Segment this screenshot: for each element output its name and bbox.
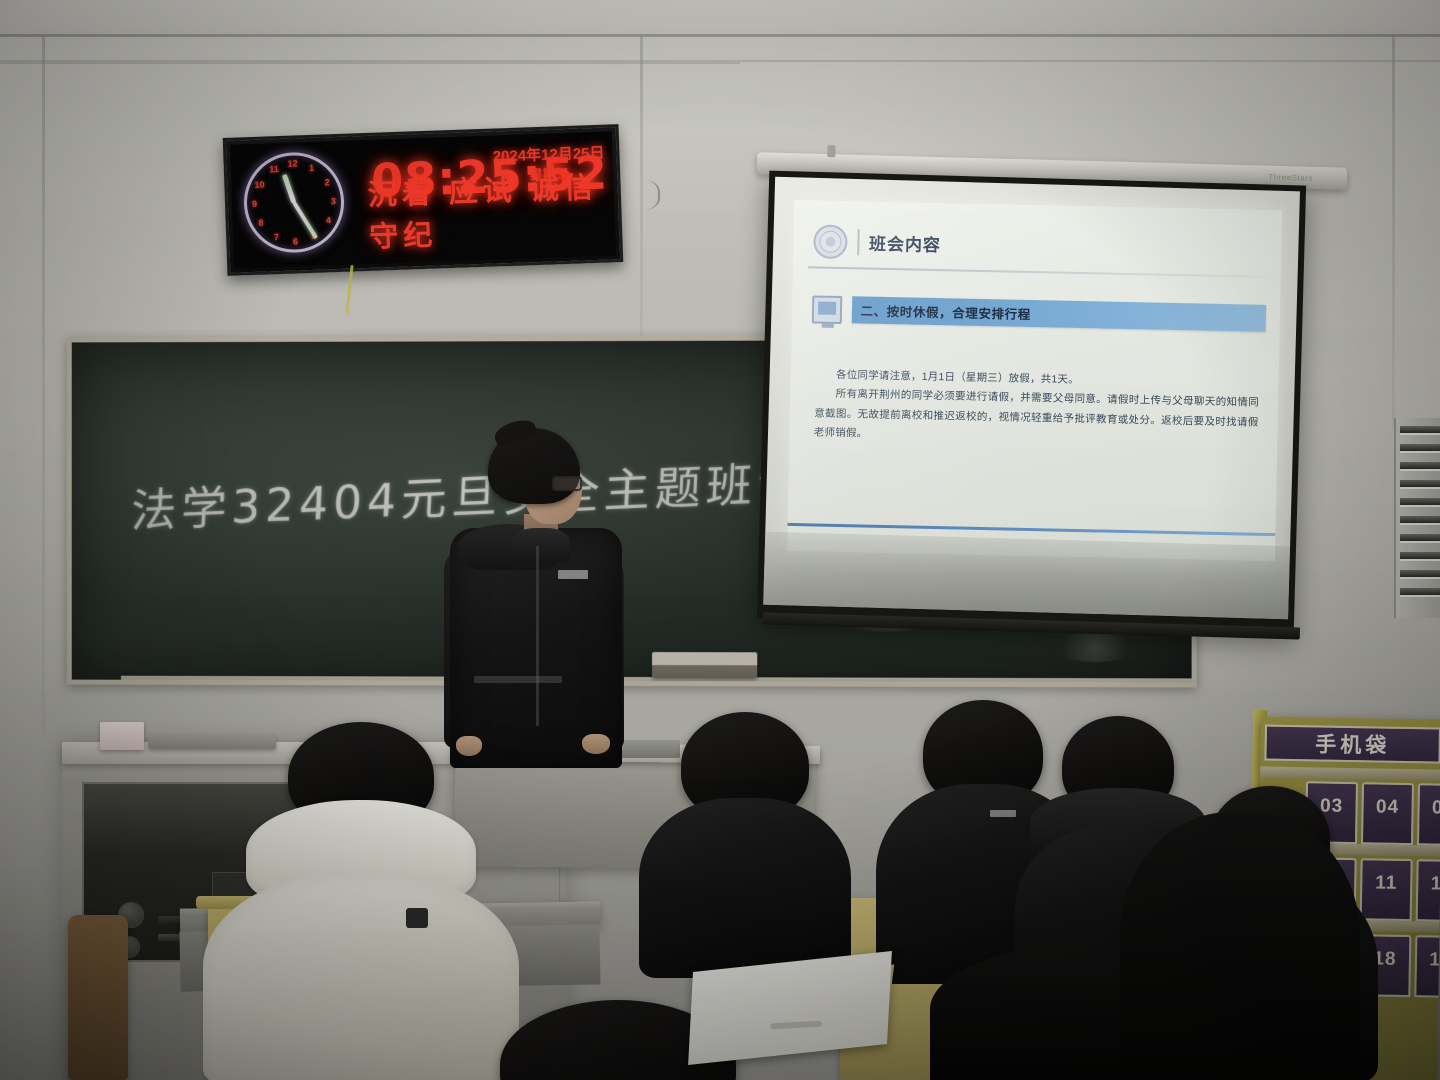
student-fleece-jacket: [203, 874, 519, 1080]
ceiling-trim-line: [0, 34, 1440, 37]
pouch-cell[interactable]: 05: [1417, 783, 1440, 846]
presenter-jacket-zipper: [536, 546, 539, 726]
wall-seam-right: [1392, 36, 1395, 426]
wall-vent-grille: [1394, 418, 1440, 618]
student-foreground-far-right: [1120, 812, 1360, 1080]
jacket-logo: [406, 908, 428, 928]
clock-hour-hand: [282, 173, 296, 203]
wall-seam-horizontal: [0, 62, 740, 64]
slide-section-bar: 二、按时休假，合理安排行程: [851, 297, 1266, 333]
slide-body-text: 各位同学请注意，1月1日（星期三）放假，共1天。 所有离开荆州的同学必须要进行请…: [814, 366, 1260, 453]
coat-label-tag: [990, 810, 1016, 817]
student-seat-white-fleece: [196, 722, 526, 1080]
university-seal-icon: [813, 224, 848, 259]
presentation-slide: 班会内容 二、按时休假，合理安排行程 各位同学请注意，1月1日（星期三）放假，共…: [787, 200, 1282, 561]
monitor-icon: [811, 296, 842, 325]
analog-clock-face: 12 1 2 3 4 5 6 7 8 9 10 11: [242, 151, 345, 254]
pouch-cell[interactable]: 19: [1414, 935, 1440, 998]
presenter-person: [440, 428, 635, 768]
wall-seam-left: [42, 36, 45, 736]
wall-wire: [620, 180, 660, 210]
slide-section-row: 二、按时休假，合理安排行程: [811, 296, 1266, 334]
housing-brand-label: ThreeStars: [1268, 173, 1313, 183]
presenter-jacket-logo: [558, 570, 588, 579]
chair[interactable]: [68, 915, 128, 1080]
led-date-text: 2024年12月25日: [492, 145, 604, 166]
pink-box-item[interactable]: [100, 722, 144, 750]
slide-body-line-2: 所有离开荆州的同学必须要进行请假，并需要父母同意。请假时上传与父母聊天的知情同意…: [814, 385, 1259, 453]
clock-minute-hand: [292, 201, 318, 239]
led-clock-board: 12 1 2 3 4 5 6 7 8 9 10 11 08:25:52 2024…: [223, 124, 624, 276]
phone-pouch-title-text: 手机袋: [1315, 728, 1391, 759]
presenter-glasses: [552, 476, 582, 491]
student-coat: [639, 798, 851, 978]
student-seat: [640, 712, 850, 972]
header-divider: [857, 229, 860, 255]
screen-lower-shadow: [763, 532, 1290, 619]
blackboard-eraser[interactable]: [652, 652, 757, 678]
classroom-scene: 12 1 2 3 4 5 6 7 8 9 10 11 08:25:52 2024…: [0, 0, 1440, 1080]
presenter-right-hand: [582, 734, 610, 754]
led-slogan-text: 沉着 应试 诚信 守纪: [367, 163, 616, 256]
phone-pouch-title: 手机袋: [1264, 725, 1440, 764]
ceiling-band: [0, 0, 1440, 36]
presenter-collar: [512, 528, 570, 562]
projection-screen: 班会内容 二、按时休假，合理安排行程 各位同学请注意，1月1日（星期三）放假，共…: [757, 171, 1306, 634]
presenter-jacket-pocket: [474, 676, 562, 683]
pouch-cell[interactable]: 12: [1416, 859, 1440, 922]
slide-header: 班会内容: [812, 218, 1267, 273]
slide-header-title: 班会内容: [869, 230, 942, 257]
